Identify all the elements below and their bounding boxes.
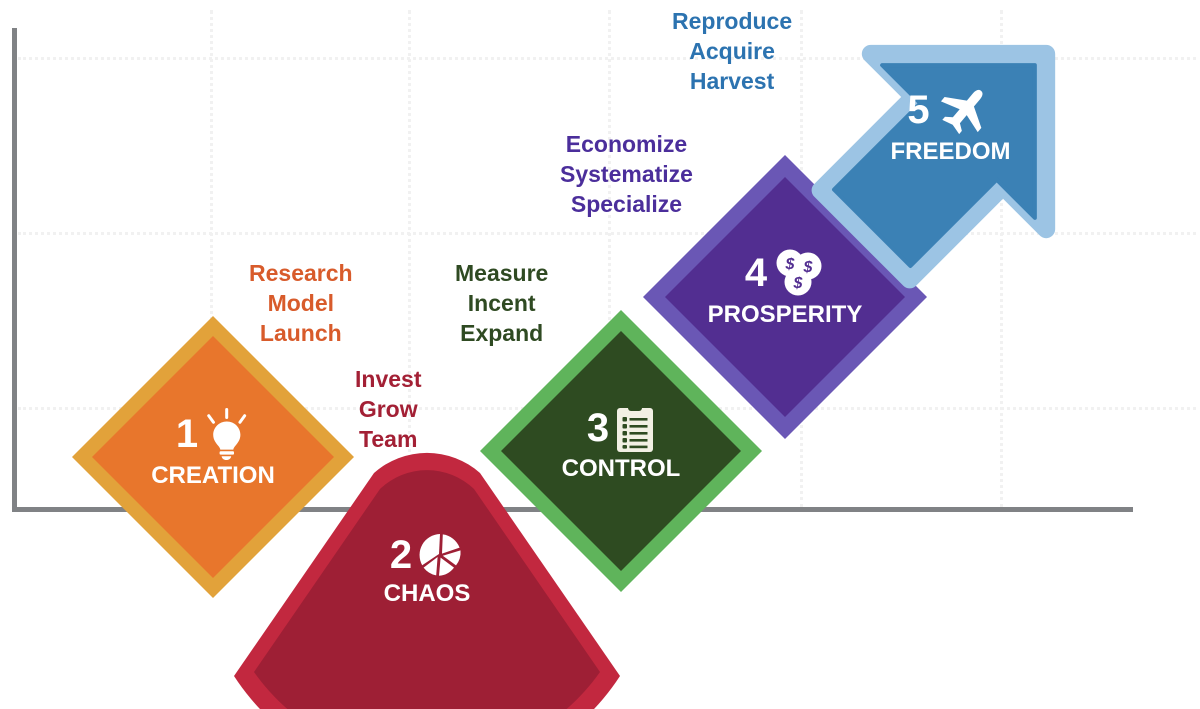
control-number: 3 — [587, 408, 609, 448]
svg-text:$: $ — [793, 275, 804, 292]
lightbulb-icon — [204, 408, 250, 460]
airplane-icon — [936, 84, 994, 136]
caption-line: Systematize — [560, 159, 693, 189]
caption-line: Grow — [355, 394, 421, 424]
caption-line: Launch — [249, 318, 353, 348]
caption-freedom: Reproduce Acquire Harvest — [672, 6, 792, 96]
caption-chaos: Invest Grow Team — [355, 364, 421, 454]
caption-line: Economize — [560, 129, 693, 159]
pie-chart-icon — [418, 532, 464, 578]
y-axis-line — [12, 28, 17, 512]
creation-number: 1 — [176, 414, 198, 454]
caption-line: Expand — [455, 318, 548, 348]
caption-control: Measure Incent Expand — [455, 258, 548, 348]
growth-stages-diagram: 1 CREATION — [0, 0, 1200, 709]
stage-freedom[interactable]: 5 FREEDOM — [808, 8, 1093, 293]
caption-line: Acquire — [672, 36, 792, 66]
freedom-number: 5 — [907, 90, 929, 130]
caption-line: Harvest — [672, 66, 792, 96]
caption-line: Model — [249, 288, 353, 318]
control-title: CONTROL — [477, 457, 765, 481]
prosperity-number: 4 — [745, 253, 767, 293]
creation-number-row: 1 — [68, 408, 358, 460]
caption-line: Measure — [455, 258, 548, 288]
caption-creation: Research Model Launch — [249, 258, 353, 348]
caption-line: Research — [249, 258, 353, 288]
caption-line: Reproduce — [672, 6, 792, 36]
freedom-title: FREEDOM — [808, 140, 1093, 164]
caption-line: Incent — [455, 288, 548, 318]
svg-text:$: $ — [785, 256, 796, 273]
caption-prosperity: Economize Systematize Specialize — [560, 129, 693, 219]
caption-line: Team — [355, 424, 421, 454]
prosperity-title: PROSPERITY — [640, 303, 930, 327]
freedom-number-row: 5 — [808, 84, 1093, 136]
caption-line: Specialize — [560, 189, 693, 219]
chaos-number: 2 — [390, 535, 412, 575]
caption-line: Invest — [355, 364, 421, 394]
